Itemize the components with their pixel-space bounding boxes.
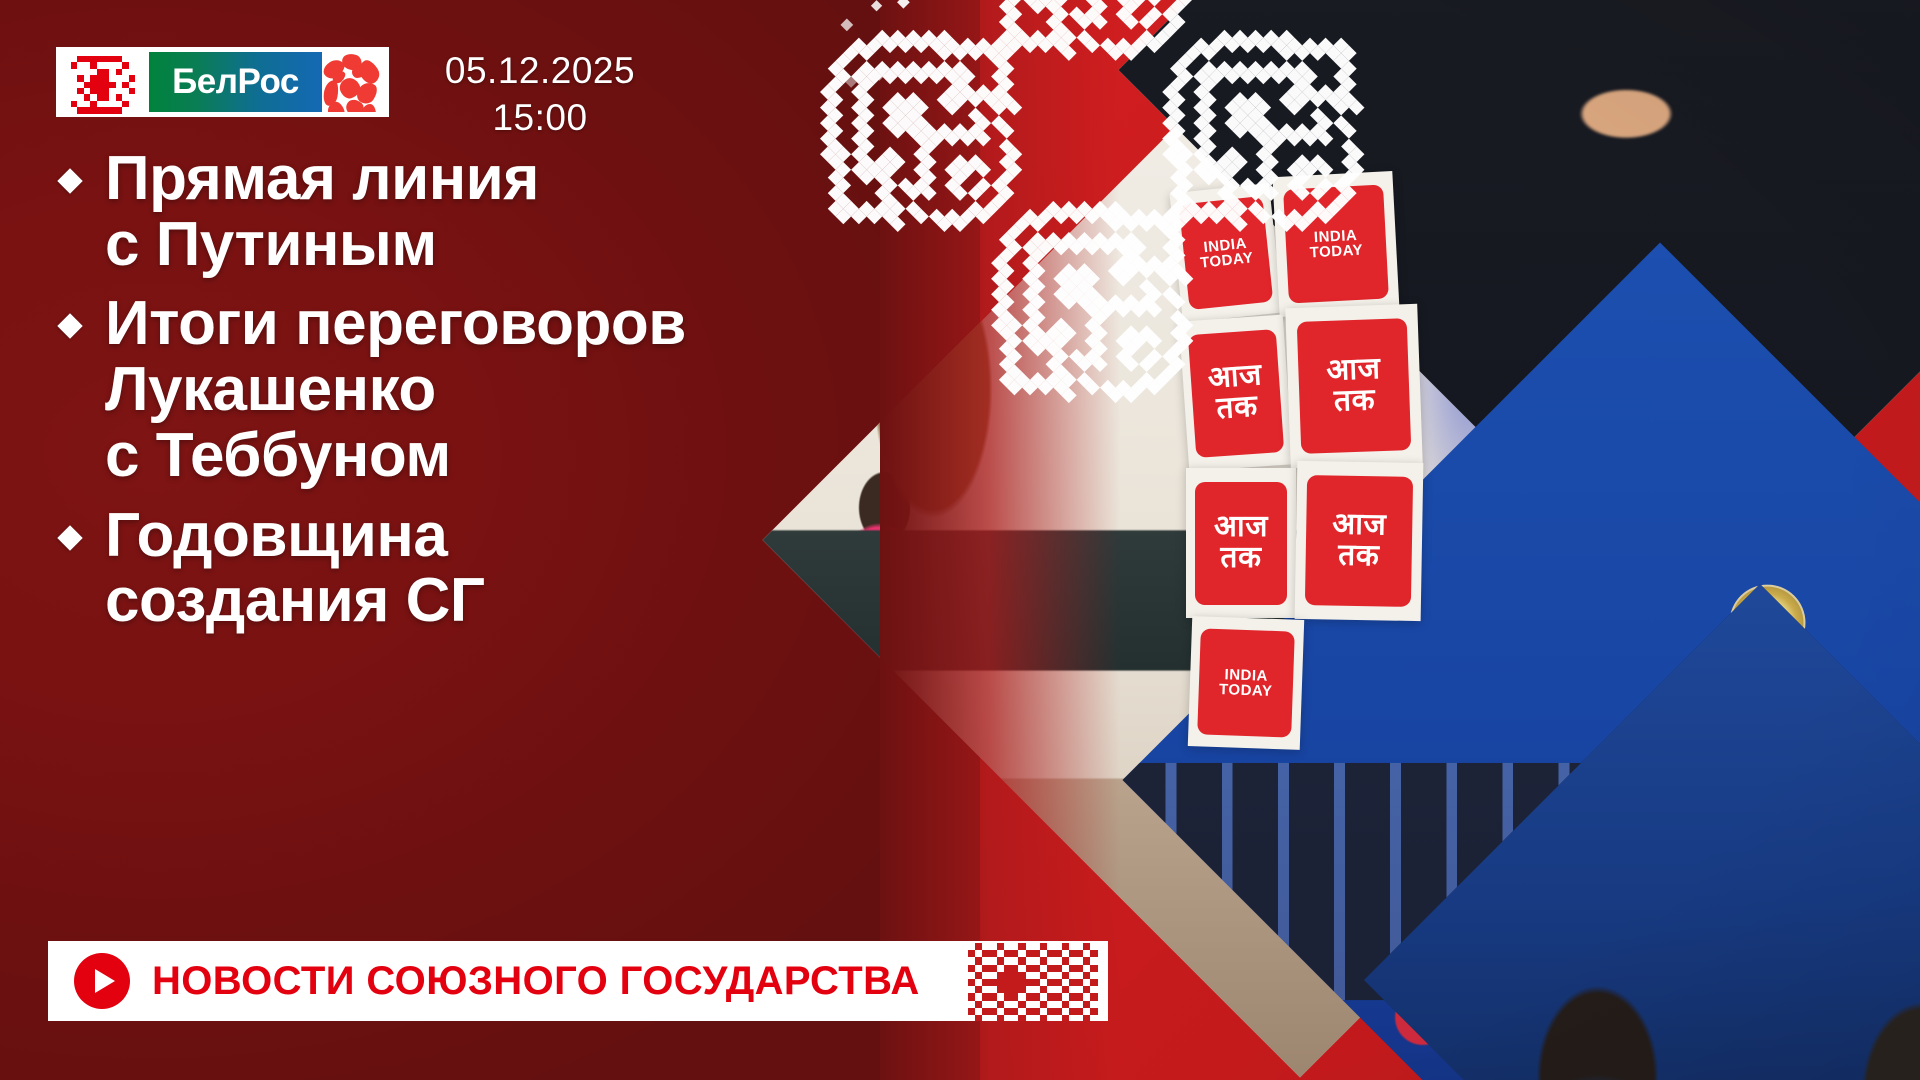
branded-cube: आज तक [1186,468,1296,618]
belarusian-ornament-red-icon [960,941,1108,1021]
branded-cube: आज तक [1285,304,1423,469]
branded-cube: आज तक [1295,461,1424,621]
cube-logo-label: INDIA TODAY [1197,628,1295,738]
red-floral-ornament-icon [322,52,384,112]
headline-item: Годовщина создания СГ [48,503,948,634]
handshake-detail [1566,79,1686,149]
belros-logo: БелРос [56,47,389,117]
headline-item: Прямая линия с Путиным [48,146,948,277]
play-icon[interactable] [74,953,130,1009]
broadcast-date: 05.12.2025 [420,48,660,95]
broadcast-time: 15:00 [420,95,660,142]
diamond-bullet-icon [57,168,82,193]
headline-text: Годовщина создания СГ [105,503,485,634]
headline-item: Итоги переговоров Лукашенко с Теббуном [48,291,948,488]
logo-wordmark: БелРос [172,62,299,102]
headline-text: Прямая линия с Путиным [105,146,539,277]
cube-logo-label: आज तक [1296,318,1411,453]
cube-logo-label: आज तक [1305,475,1413,606]
cube-logo-label: आज तक [1195,482,1287,605]
play-triangle-icon [95,969,115,993]
logo-wordmark-block: БелРос [149,52,322,112]
headline-text: Итоги переговоров Лукашенко с Теббуном [105,291,686,488]
banner-label: НОВОСТИ СОЮЗНОГО ГОСУДАРСТВА [152,959,920,1004]
bottom-banner: НОВОСТИ СОЮЗНОГО ГОСУДАРСТВА [48,941,1108,1021]
diamond-bullet-icon [57,314,82,339]
belarusian-cross-ornament-icon [61,52,149,112]
diamond-bullet-icon [57,525,82,550]
branded-cube: INDIA TODAY [1188,616,1304,750]
broadcast-promo-slide: Премия Союзного государства в области на… [0,0,1920,1080]
datetime-block: 05.12.2025 15:00 [420,48,660,141]
headline-list: Прямая линия с Путиным Итоги переговоров… [48,146,948,648]
